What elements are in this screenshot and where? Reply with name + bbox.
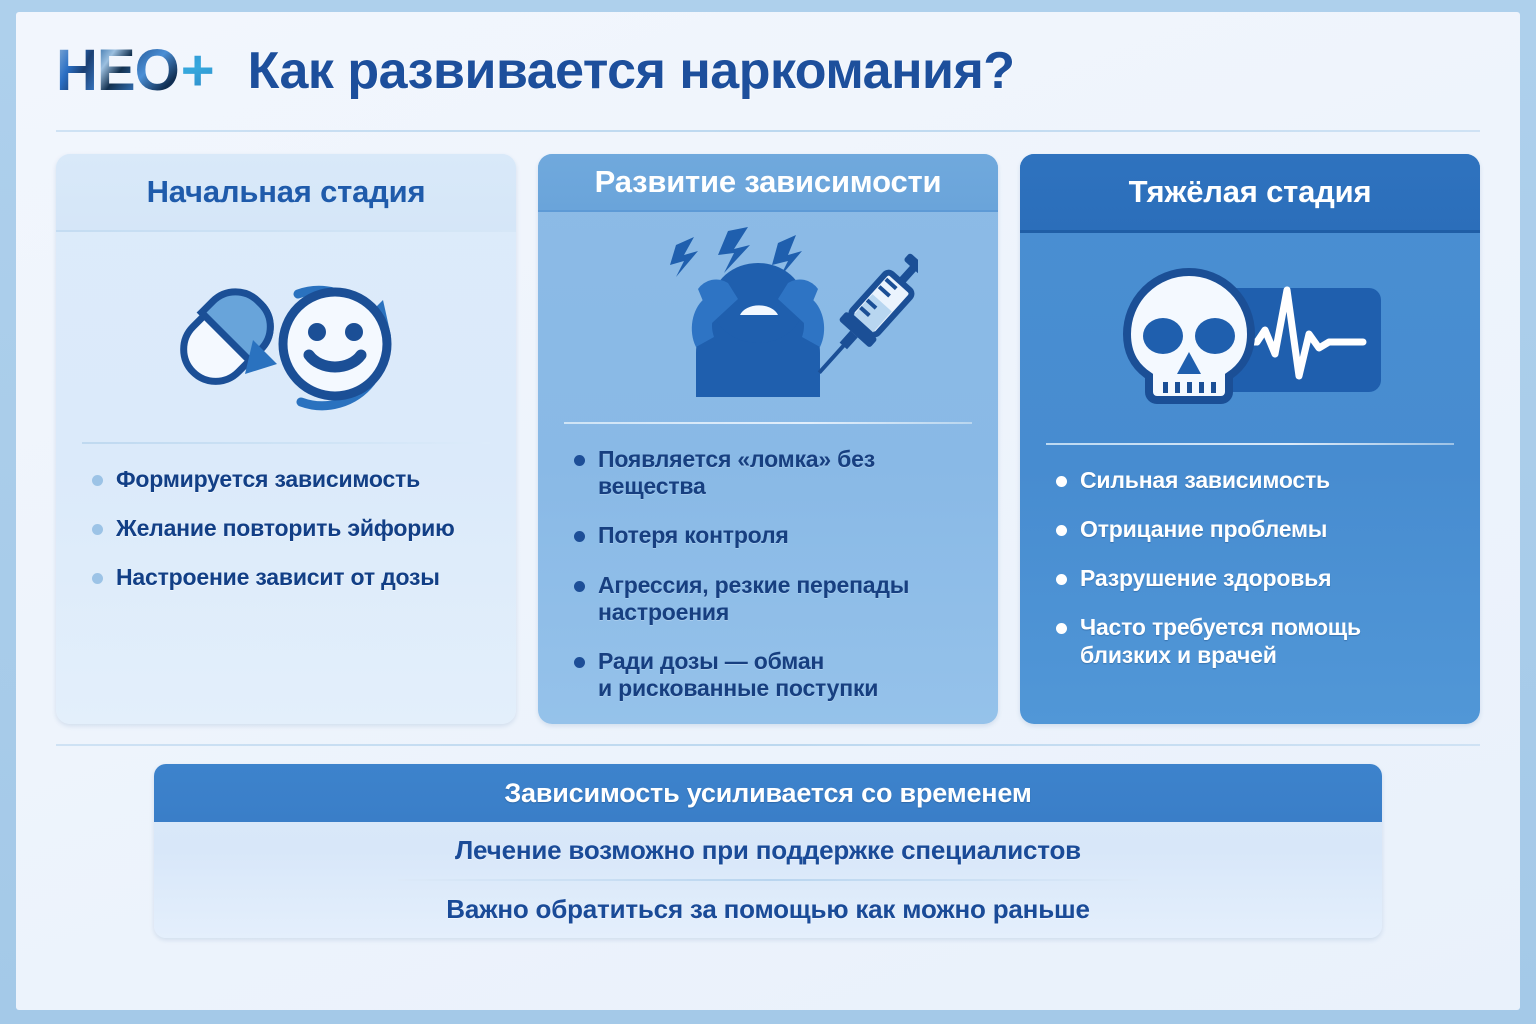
stage-card-severe-body: Сильная зависимость Отрицание проблемы Р… bbox=[1020, 233, 1480, 724]
skull-ecg-icon bbox=[1042, 233, 1458, 443]
stage-card-development-bullets: Появляется «ломка» без вещества Потеря к… bbox=[560, 424, 976, 724]
bullet-dot-icon bbox=[1056, 525, 1067, 536]
bullet-dot-icon bbox=[574, 531, 585, 542]
list-item-label: Отрицание проблемы bbox=[1080, 516, 1327, 543]
list-item-label: Разрушение здоровья bbox=[1080, 565, 1331, 592]
summary-line-1: Лечение возможно при поддержке специалис… bbox=[154, 822, 1382, 879]
logo-plus-icon: + bbox=[181, 42, 214, 100]
pill-smiley-cycle-icon bbox=[78, 232, 494, 442]
list-item: Желание повторить эйфорию bbox=[92, 515, 490, 542]
list-item-label: Часто требуется помощь близких и врачей bbox=[1080, 614, 1361, 668]
bullet-dot-icon bbox=[1056, 476, 1067, 487]
list-item: Отрицание проблемы bbox=[1056, 516, 1454, 543]
list-item-label: Потеря контроля bbox=[598, 522, 789, 549]
bullet-dot-icon bbox=[574, 657, 585, 668]
stage-card-development-body: Появляется «ломка» без вещества Потеря к… bbox=[538, 212, 998, 724]
stage-card-severe-title: Тяжёлая стадия bbox=[1020, 154, 1480, 230]
list-item: Разрушение здоровья bbox=[1056, 565, 1454, 592]
page-title: Как развивается наркомания? bbox=[248, 41, 1015, 101]
list-item: Потеря контроля bbox=[574, 522, 972, 549]
list-item-label: Агрессия, резкие перепады настроения bbox=[598, 572, 972, 626]
bullet-dot-icon bbox=[92, 475, 103, 486]
poster-sheet: НЕО+ Как развивается наркомания? Начальн… bbox=[16, 12, 1520, 1010]
list-item: Часто требуется помощь близких и врачей bbox=[1056, 614, 1454, 668]
stage-card-initial-body: Формируется зависимость Желание повторит… bbox=[56, 232, 516, 724]
list-item-label: Появляется «ломка» без вещества bbox=[598, 446, 972, 500]
bullet-dot-icon bbox=[574, 581, 585, 592]
stages-container: Начальная стадия bbox=[56, 154, 1480, 724]
list-item: Сильная зависимость bbox=[1056, 467, 1454, 494]
footer-top-divider bbox=[56, 744, 1480, 746]
footer-section: Зависимость усиливается со временем Лече… bbox=[56, 744, 1480, 1010]
stage-card-development[interactable]: Развитие зависимости bbox=[538, 154, 998, 724]
header-divider bbox=[56, 130, 1480, 132]
bullet-dot-icon bbox=[1056, 574, 1067, 585]
summary-headline: Зависимость усиливается со временем bbox=[154, 764, 1382, 822]
poster-header: НЕО+ Как развивается наркомания? bbox=[56, 12, 1480, 130]
list-item: Ради дозы — обман и рискованные поступки bbox=[574, 648, 972, 702]
stage-card-initial[interactable]: Начальная стадия bbox=[56, 154, 516, 724]
list-item-label: Формируется зависимость bbox=[116, 466, 420, 493]
list-item-label: Ради дозы — обман и рискованные поступки bbox=[598, 648, 878, 702]
bullet-dot-icon bbox=[92, 573, 103, 584]
stage-card-initial-bullets: Формируется зависимость Желание повторит… bbox=[78, 444, 494, 613]
list-item: Агрессия, резкие перепады настроения bbox=[574, 572, 972, 626]
summary-line-2: Важно обратиться за помощью как можно ра… bbox=[154, 881, 1382, 938]
list-item: Настроение зависит от дозы bbox=[92, 564, 490, 591]
brand-logo: НЕО+ bbox=[56, 42, 214, 100]
summary-panel: Зависимость усиливается со временем Лече… bbox=[154, 764, 1382, 938]
list-item-label: Сильная зависимость bbox=[1080, 467, 1330, 494]
list-item: Появляется «ломка» без вещества bbox=[574, 446, 972, 500]
stage-card-severe[interactable]: Тяжёлая стадия bbox=[1020, 154, 1480, 724]
infographic-poster: НЕО+ Как развивается наркомания? Начальн… bbox=[0, 0, 1536, 1024]
logo-letter-o: О bbox=[135, 42, 179, 100]
list-item-label: Настроение зависит от дозы bbox=[116, 564, 440, 591]
list-item: Формируется зависимость bbox=[92, 466, 490, 493]
logo-letter-n: Н bbox=[56, 42, 97, 100]
bullet-dot-icon bbox=[574, 455, 585, 466]
list-item-label: Желание повторить эйфорию bbox=[116, 515, 455, 542]
stage-card-severe-bullets: Сильная зависимость Отрицание проблемы Р… bbox=[1042, 445, 1458, 691]
logo-letter-e: Е bbox=[97, 42, 135, 100]
bullet-dot-icon bbox=[1056, 623, 1067, 634]
bullet-dot-icon bbox=[92, 524, 103, 535]
stressed-person-syringe-icon bbox=[560, 212, 976, 422]
stage-card-development-title: Развитие зависимости bbox=[538, 154, 998, 210]
stage-card-initial-title: Начальная стадия bbox=[56, 154, 516, 230]
